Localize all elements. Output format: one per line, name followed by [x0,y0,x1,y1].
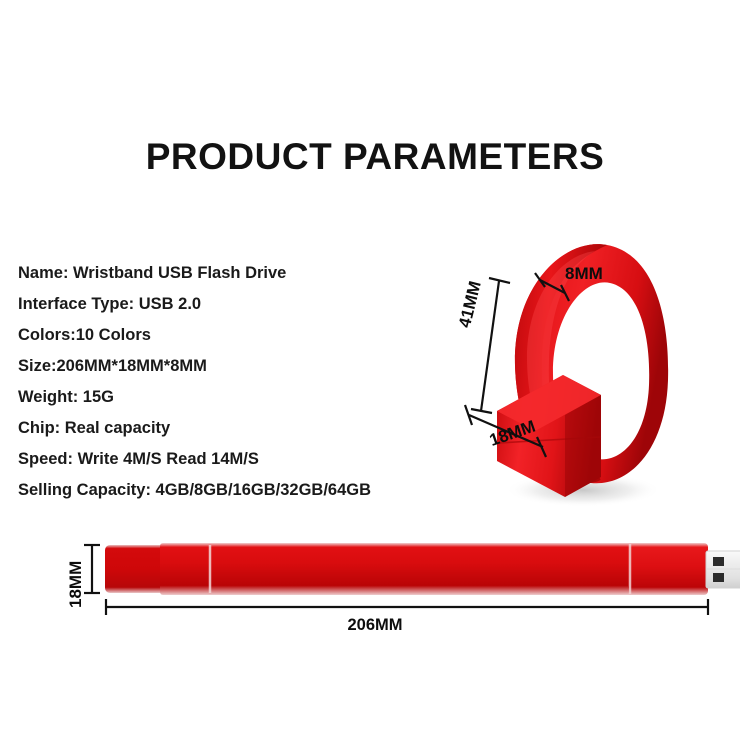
usb-connector [706,551,740,588]
dim-line-18mm-strap [84,545,100,593]
dimension-label-8mm: 8MM [565,264,603,284]
photo-dimension-lines [455,215,705,510]
dimension-label-206mm: 206MM [0,616,750,635]
spec-line-selling-capacity: Selling Capacity: 4GB/8GB/16GB/32GB/64GB [18,475,448,506]
dim-line-8mm [535,273,569,301]
spec-line-size: Size:206MM*18MM*8MM [18,351,448,382]
strap-segment-right [628,543,708,595]
usb-contact-top [713,557,724,566]
spec-list: Name: Wristband USB Flash Drive Interfac… [18,258,448,506]
product-parameters-page: PRODUCT PARAMETERS Name: Wristband USB F… [0,0,750,750]
spec-line-weight: Weight: 15G [18,382,448,413]
spec-line-colors: Colors:10 Colors [18,320,448,351]
spec-line-speed: Speed: Write 4M/S Read 14M/S [18,444,448,475]
usb-contact-bottom [713,573,724,582]
spec-line-name: Name: Wristband USB Flash Drive [18,258,448,289]
dim-line-206mm [106,599,708,615]
dimension-label-18mm-strap: 18MM [66,561,86,608]
spec-line-interface-type: Interface Type: USB 2.0 [18,289,448,320]
page-title: PRODUCT PARAMETERS [0,136,750,178]
strap-segment-middle [160,543,640,595]
spec-line-chip: Chip: Real capacity [18,413,448,444]
